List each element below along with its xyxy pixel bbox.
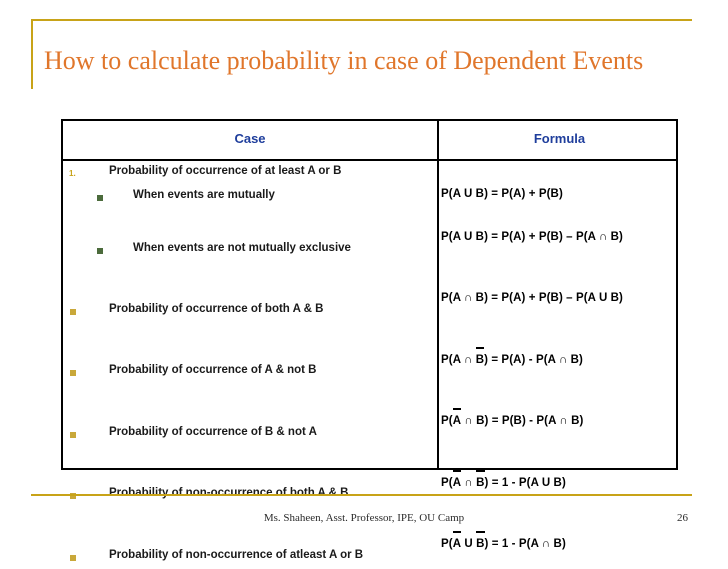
formula-text: ) = 1 - P(A ∩ B) <box>485 538 566 550</box>
complement-overbar: B <box>476 354 484 366</box>
gold-square-bullet-icon <box>70 309 76 315</box>
complement-overbar: A <box>453 415 461 427</box>
case-label: Probability of occurrence of both A & B <box>109 303 323 315</box>
gold-square-bullet-icon <box>70 370 76 376</box>
formula-text: ∩ <box>461 477 476 489</box>
formula-expression: P(A ∩ B) = P(A) + P(B) – P(A U B) <box>441 292 680 304</box>
formula-text: P( <box>441 415 453 427</box>
formula-expression: P(A U B) = 1 - P(A ∩ B) <box>441 538 680 550</box>
formula-expression: P(A ∩ B) = P(B) - P(A ∩ B) <box>441 415 680 427</box>
table-row: Probability of occurrence of B & not A <box>63 424 437 446</box>
formula-text: ∩ B) = P(B) - P(A ∩ B) <box>461 415 583 427</box>
formula-cell: P(A ∩ B) = 1 - P(A U B) <box>441 477 680 489</box>
formula-text: P(A U B) = P(A) + P(B) <box>441 188 563 200</box>
case-label: Probability of non-occurrence of both A … <box>109 487 348 499</box>
formula-expression: P(A U B) = P(A) + P(B) – P(A ∩ B) <box>441 231 680 243</box>
formula-text: P( <box>441 477 453 489</box>
table-row: When events are not mutually exclusive <box>63 240 437 262</box>
title-left-accent-bar <box>31 19 33 89</box>
column-header-case: Case <box>63 131 437 146</box>
table-row: Probability of non-occurrence of both A … <box>63 485 437 507</box>
footer-rule <box>31 494 692 496</box>
formula-cell: P(A ∩ B) = P(A) + P(B) – P(A U B) <box>441 292 680 304</box>
formula-expression: P(A U B) = P(A) + P(B) <box>441 188 680 200</box>
formula-expression: P(A ∩ B) = 1 - P(A U B) <box>441 477 680 489</box>
formula-text: P(A ∩ B) = P(A) + P(B) – P(A U B) <box>441 292 623 304</box>
formula-expression: P(A ∩ B) = P(A) - P(A ∩ B) <box>441 354 680 366</box>
list-number-marker: 1. <box>69 169 76 178</box>
formula-text: ) = 1 - P(A U B) <box>485 477 566 489</box>
probability-formula-table: Case Formula 1.Probability of occurrence… <box>61 119 678 470</box>
formula-cell: P(A ∩ B) = P(B) - P(A ∩ B) <box>441 415 680 427</box>
table-row: When events are mutually <box>63 187 437 209</box>
table-row: Probability of occurrence of A & not B <box>63 362 437 384</box>
page-number: 26 <box>677 512 688 524</box>
title-top-rule <box>31 19 692 21</box>
formula-text: P(A ∩ <box>441 354 476 366</box>
table-row: 1.Probability of occurrence of at least … <box>63 163 437 185</box>
formula-cell: P(A U B) = P(A) + P(B) <box>441 188 680 200</box>
formula-text: U <box>461 538 476 550</box>
green-square-bullet-icon <box>97 248 103 254</box>
case-label: Probability of occurrence of at least A … <box>109 165 341 177</box>
column-header-formula: Formula <box>439 131 680 146</box>
footer-credit: Ms. Shaheen, Asst. Professor, IPE, OU Ca… <box>0 512 728 524</box>
case-label: Probability of occurrence of A & not B <box>109 364 316 376</box>
complement-overbar: A <box>453 538 461 550</box>
formula-cell: P(A U B) = 1 - P(A ∩ B) <box>441 538 680 550</box>
gold-square-bullet-icon <box>70 555 76 561</box>
formula-cell: P(A U B) = P(A) + P(B) – P(A ∩ B) <box>441 231 680 243</box>
table-row: Probability of non-occurrence of atleast… <box>63 547 437 569</box>
formula-text: P( <box>441 538 453 550</box>
complement-overbar: B <box>476 477 484 489</box>
gold-square-bullet-icon <box>70 432 76 438</box>
complement-overbar: A <box>453 477 461 489</box>
case-label: When events are mutually <box>133 189 275 201</box>
column-divider <box>437 121 439 468</box>
green-square-bullet-icon <box>97 195 103 201</box>
table-row: Probability of occurrence of both A & B <box>63 301 437 323</box>
case-label: Probability of non-occurrence of atleast… <box>109 549 363 561</box>
page-title: How to calculate probability in case of … <box>44 44 674 77</box>
complement-overbar: B <box>476 538 484 550</box>
case-label: When events are not mutually exclusive <box>133 242 351 254</box>
formula-text: ) = P(A) - P(A ∩ B) <box>484 354 583 366</box>
formula-text: P(A U B) = P(A) + P(B) – P(A ∩ B) <box>441 231 623 243</box>
case-label: Probability of occurrence of B & not A <box>109 426 317 438</box>
formula-cell: P(A ∩ B) = P(A) - P(A ∩ B) <box>441 354 680 366</box>
